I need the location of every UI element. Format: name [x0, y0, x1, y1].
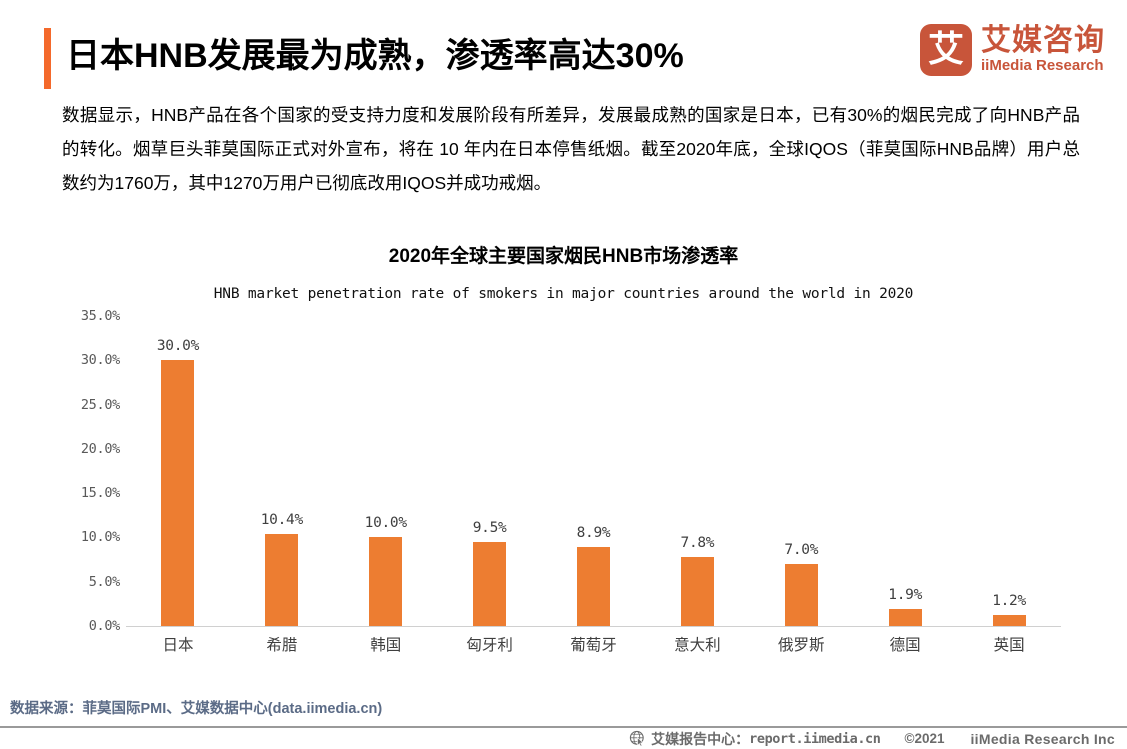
y-axis-tick: 5.0% [89, 574, 120, 590]
brand-logo: 艾 艾媒咨询 iiMedia Research [920, 24, 1105, 76]
bar[interactable] [889, 609, 922, 626]
brand-name-en: iiMedia Research [981, 57, 1105, 75]
x-axis-label: 德国 [853, 628, 957, 664]
chart-title: 2020年全球主要国家烟民HNB市场渗透率 [0, 243, 1127, 271]
footer-bar: 艾媒报告中心： report.iimedia.cn ©2021 iiMedia … [0, 728, 1127, 749]
x-axis-label: 俄罗斯 [749, 628, 853, 664]
page-header: 日本HNB发展最为成熟，渗透率高达30% 艾 艾媒咨询 iiMedia Rese… [0, 0, 1127, 96]
x-axis-baseline [126, 626, 1061, 627]
bar[interactable] [681, 557, 714, 626]
bar-series: 30.0%10.4%10.0%9.5%8.9%7.8%7.0%1.9%1.2% [126, 316, 1061, 626]
data-source-note: 数据来源：菲莫国际PMI、艾媒数据中心(data.iimedia.cn) [10, 697, 382, 718]
bar-value-label: 7.8% [681, 535, 715, 551]
bar-column[interactable]: 7.0% [749, 316, 853, 626]
bar-value-label: 8.9% [577, 525, 611, 541]
copyright-label: ©2021 [905, 731, 945, 746]
org-label: iiMedia Research Inc [970, 731, 1115, 747]
x-axis: 日本希腊韩国匈牙利葡萄牙意大利俄罗斯德国英国 [126, 628, 1061, 664]
bar-column[interactable]: 9.5% [438, 316, 542, 626]
x-axis-label: 葡萄牙 [542, 628, 646, 664]
bar[interactable] [161, 360, 194, 626]
x-axis-label: 韩国 [334, 628, 438, 664]
x-axis-label: 日本 [126, 628, 230, 664]
bar[interactable] [265, 534, 298, 626]
bar-column[interactable]: 1.9% [853, 316, 957, 626]
bar[interactable] [577, 547, 610, 626]
brand-mark-icon: 艾 [920, 24, 972, 76]
intro-paragraph: 数据显示，HNB产品在各个国家的受支持力度和发展阶段有所差异，发展最成熟的国家是… [62, 98, 1080, 200]
bar[interactable] [993, 615, 1026, 626]
x-axis-label: 匈牙利 [438, 628, 542, 664]
title-accent-bar [44, 28, 51, 89]
y-axis-tick: 20.0% [81, 441, 120, 457]
brand-text: 艾媒咨询 iiMedia Research [981, 25, 1105, 75]
bar-value-label: 30.0% [157, 338, 199, 354]
y-axis-tick: 25.0% [81, 397, 120, 413]
bar-column[interactable]: 8.9% [542, 316, 646, 626]
bar-column[interactable]: 7.8% [645, 316, 749, 626]
globe-cursor-icon [629, 730, 646, 747]
bar-value-label: 10.0% [365, 515, 407, 531]
bar[interactable] [473, 542, 506, 626]
bar[interactable] [369, 537, 402, 626]
bar-value-label: 7.0% [784, 542, 818, 558]
bar-value-label: 1.9% [888, 587, 922, 603]
chart-subtitle: HNB market penetration rate of smokers i… [0, 282, 1127, 306]
bar-value-label: 10.4% [261, 512, 303, 528]
bar[interactable] [785, 564, 818, 626]
y-axis-tick: 10.0% [81, 529, 120, 545]
report-center-url[interactable]: report.iimedia.cn [749, 731, 880, 747]
brand-name-cn: 艾媒咨询 [981, 25, 1105, 57]
bar-value-label: 9.5% [473, 520, 507, 536]
bar-column[interactable]: 10.0% [334, 316, 438, 626]
y-axis-tick: 30.0% [81, 352, 120, 368]
x-axis-label: 意大利 [645, 628, 749, 664]
y-axis-tick: 0.0% [89, 618, 120, 634]
bar-value-label: 1.2% [992, 593, 1026, 609]
bar-column[interactable]: 10.4% [230, 316, 334, 626]
slide-page: 日本HNB发展最为成熟，渗透率高达30% 艾 艾媒咨询 iiMedia Rese… [0, 0, 1127, 749]
x-axis-label: 希腊 [230, 628, 334, 664]
y-axis-tick: 15.0% [81, 485, 120, 501]
y-axis-tick: 35.0% [81, 308, 120, 324]
chart-container: 2020年全球主要国家烟民HNB市场渗透率 HNB market penetra… [0, 238, 1127, 678]
bar-column[interactable]: 30.0% [126, 316, 230, 626]
page-title: 日本HNB发展最为成熟，渗透率高达30% [66, 32, 684, 80]
chart-plot-area: 35.0%30.0%25.0%20.0%15.0%10.0%5.0%0.0% 3… [0, 316, 1127, 676]
x-axis-label: 英国 [957, 628, 1061, 664]
report-center-label: 艾媒报告中心： [651, 729, 749, 749]
y-axis: 35.0%30.0%25.0%20.0%15.0%10.0%5.0%0.0% [48, 316, 120, 626]
bar-column[interactable]: 1.2% [957, 316, 1061, 626]
